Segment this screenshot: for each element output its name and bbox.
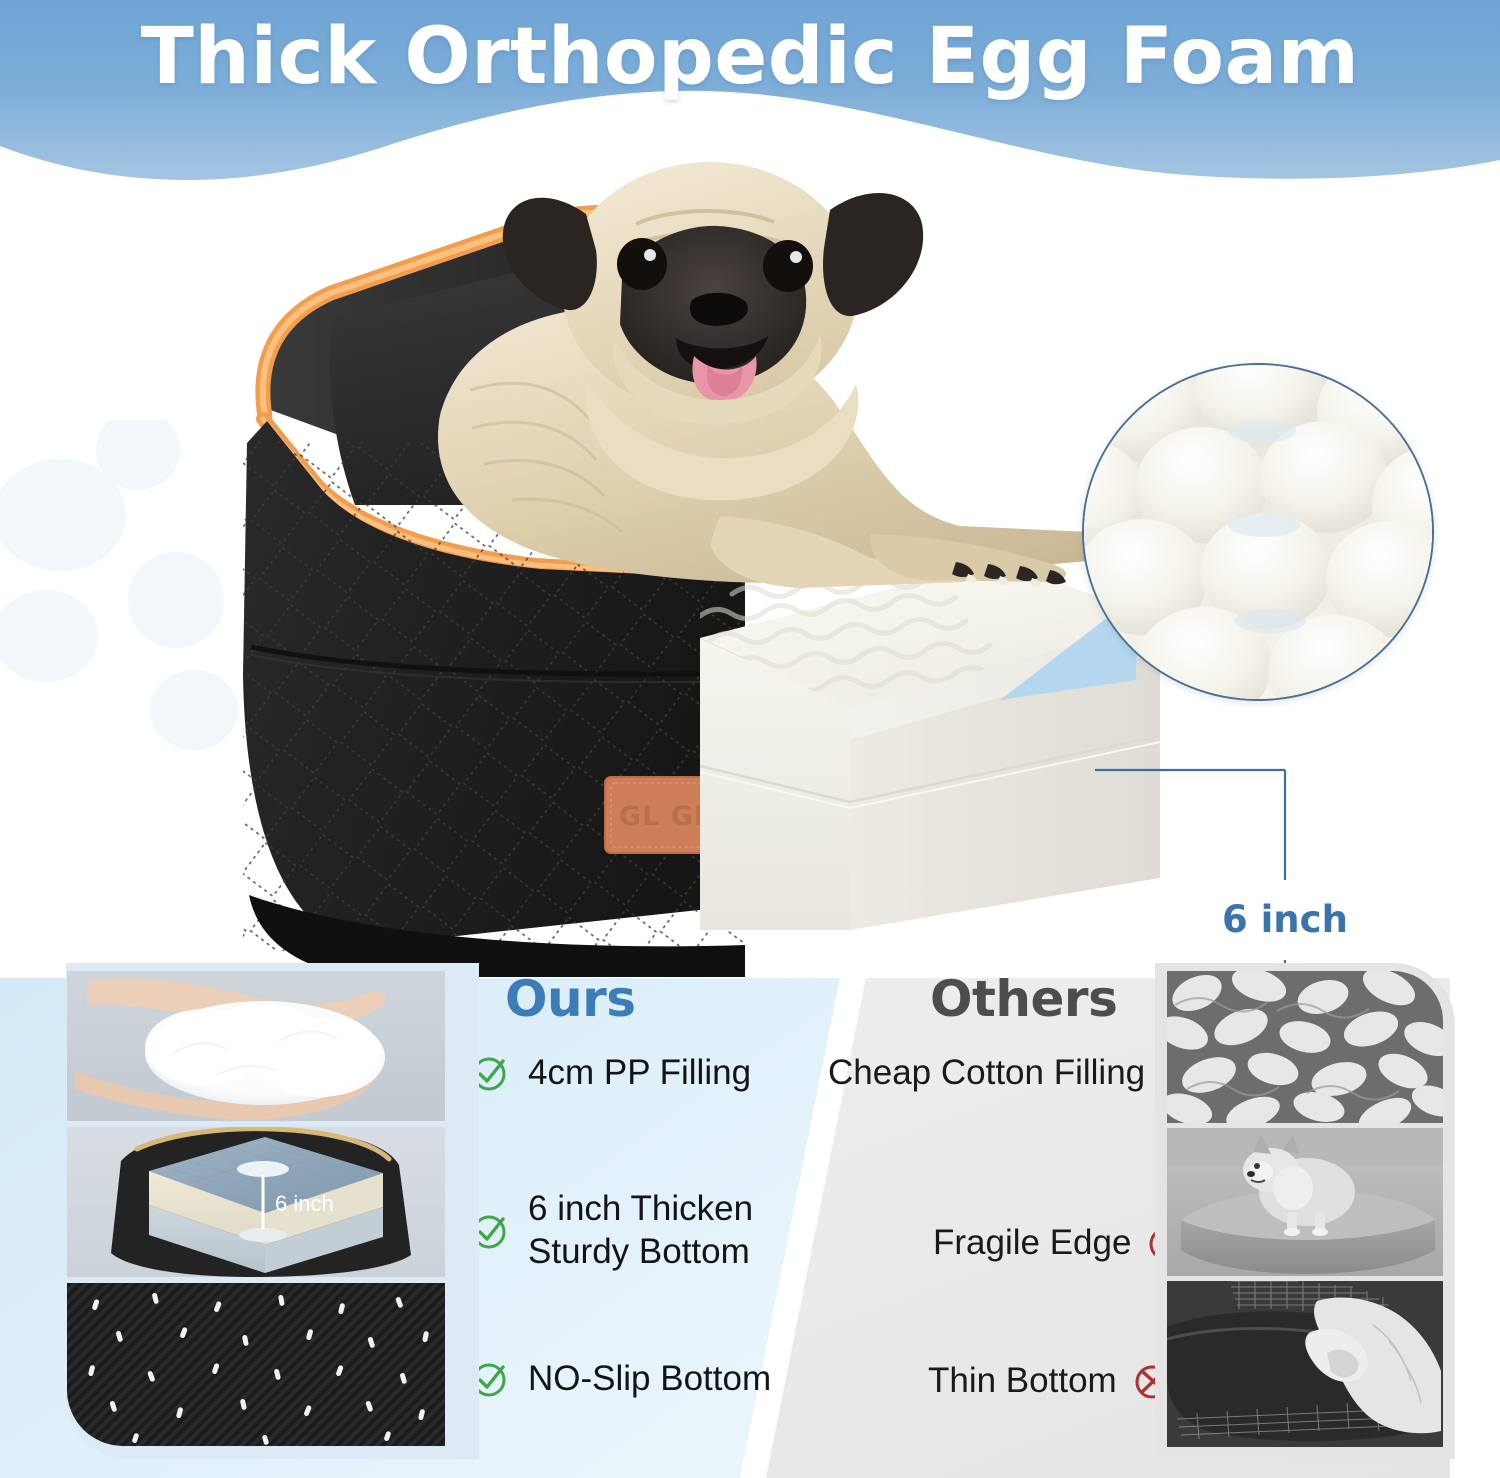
ours-feature-label-line2: Sturdy Bottom	[528, 1232, 750, 1271]
others-feature-row: Cheap Cotton Filling	[828, 1052, 1201, 1095]
thin-bottom-image	[1167, 1281, 1443, 1447]
ours-feature-row: 6 inch Thicken Sturdy Bottom	[470, 1188, 753, 1273]
ours-thumbnail-column: 6 inch	[33, 960, 446, 1478]
ours-feature-row: 4cm PP Filling	[470, 1052, 751, 1095]
product-infographic: Thick Orthopedic Egg Foam	[0, 0, 1500, 1478]
ours-feature-label: NO-Slip Bottom	[528, 1358, 771, 1401]
cheap-cotton-image	[1167, 971, 1443, 1123]
fragile-edge-image	[1167, 1128, 1443, 1276]
six-inch-cutaway-image: 6 inch	[67, 1127, 445, 1277]
thumbnail-non-slip-bottom	[67, 1283, 445, 1446]
others-heading: Others	[930, 970, 1117, 1028]
page-title: Thick Orthopedic Egg Foam	[0, 12, 1500, 102]
others-feature-label: Thin Bottom	[928, 1360, 1117, 1403]
ours-feature-label: 4cm PP Filling	[528, 1052, 751, 1095]
thumbnail-cheap-cotton	[1167, 971, 1443, 1123]
comparison-section: Ours Others 4cm PP Filling 6 inch Thicke…	[0, 960, 1500, 1478]
others-feature-label: Cheap Cotton Filling	[828, 1052, 1145, 1095]
non-slip-bottom-image	[67, 1283, 445, 1446]
egg-foam-closeup-magnifier	[1082, 363, 1434, 701]
others-feature-label: Fragile Edge	[933, 1222, 1131, 1265]
thumbnail-fragile-edge	[1167, 1128, 1443, 1276]
others-thumbnail-column	[1155, 960, 1455, 1478]
ours-feature-row: NO-Slip Bottom	[470, 1358, 771, 1401]
ours-heading: Ours	[505, 970, 636, 1028]
thumbnail-six-inch-diagram: 6 inch	[67, 1127, 445, 1277]
diagram-six-inch-caption: 6 inch	[275, 1191, 334, 1216]
egg-foam-texture	[1084, 365, 1434, 701]
dimension-label: 6 inch	[1222, 898, 1348, 941]
thumbnail-pp-filling	[67, 971, 445, 1121]
others-feature-row: Fragile Edge	[933, 1222, 1187, 1265]
ours-feature-label-block: 6 inch Thicken Sturdy Bottom	[528, 1188, 753, 1273]
pp-filling-image	[67, 971, 445, 1121]
others-feature-row: Thin Bottom	[928, 1360, 1173, 1403]
hero-product-scene: GL GLENS	[0, 150, 1500, 960]
ours-feature-label-line1: 6 inch Thicken	[528, 1189, 753, 1228]
thumbnail-thin-bottom	[1167, 1281, 1443, 1447]
